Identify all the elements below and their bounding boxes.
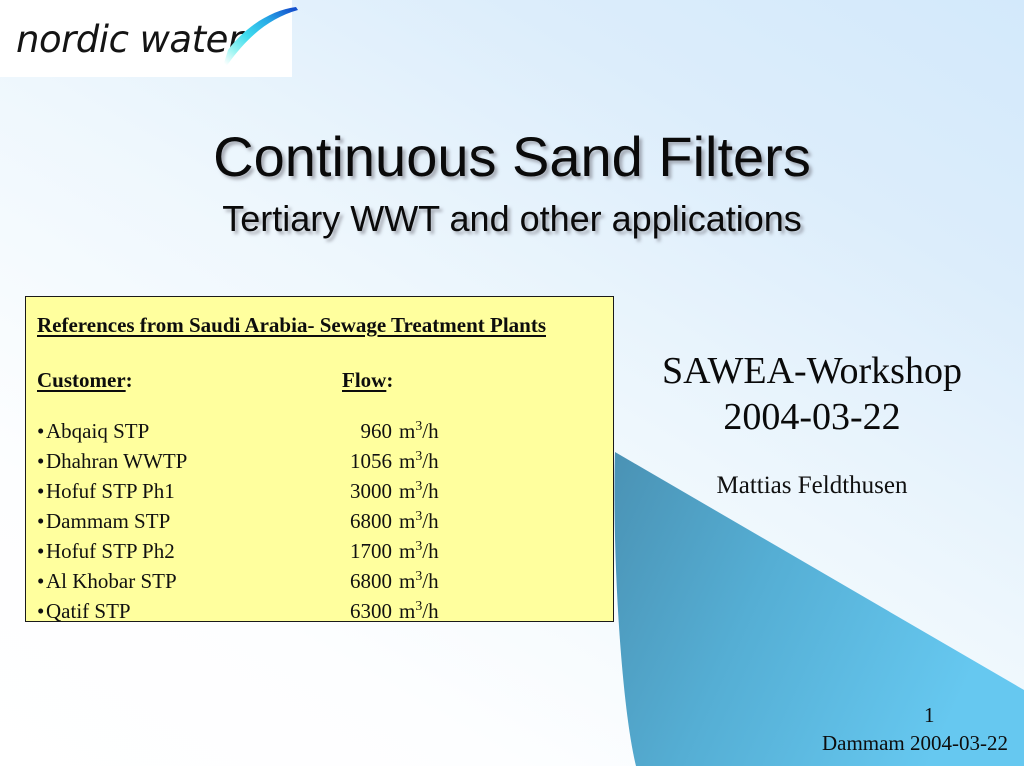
list-item: •Hofuf STP Ph13000m3/h (37, 479, 597, 509)
page-subtitle: Tertiary WWT and other applications (0, 198, 1024, 240)
flow-unit: m3/h (392, 479, 439, 504)
column-header-flow-label: Flow (342, 368, 386, 392)
flow-unit-suffix: /h (422, 599, 438, 623)
slide-footer: Dammam 2004-03-22 (624, 731, 1008, 756)
flow-unit-prefix: m (399, 599, 415, 623)
customer-name: Hofuf STP Ph1 (46, 479, 342, 504)
flow-unit: m3/h (392, 539, 439, 564)
bullet-icon: • (37, 479, 46, 504)
flow-unit-suffix: /h (422, 509, 438, 533)
flow-value: 1700 (342, 539, 392, 564)
bullet-icon: • (37, 509, 46, 534)
bullet-icon: • (37, 599, 46, 624)
flow-unit-suffix: /h (422, 539, 438, 563)
list-item: •Al Khobar STP6800m3/h (37, 569, 597, 599)
flow-value: 3000 (342, 479, 392, 504)
column-header-customer-label: Customer (37, 368, 126, 392)
flow-unit-prefix: m (399, 419, 415, 443)
flow-value: 6800 (342, 509, 392, 534)
references-row-list: •Abqaiq STP960m3/h •Dhahran WWTP1056m3/h… (37, 419, 597, 629)
list-item: •Dhahran WWTP1056m3/h (37, 449, 597, 479)
list-item: •Dammam STP6800m3/h (37, 509, 597, 539)
customer-name: Dammam STP (46, 509, 342, 534)
flow-value: 1056 (342, 449, 392, 474)
flow-unit-suffix: /h (422, 449, 438, 473)
customer-name: Abqaiq STP (46, 419, 342, 444)
customer-name: Al Khobar STP (46, 569, 342, 594)
bullet-icon: • (37, 569, 46, 594)
list-item: •Hofuf STP Ph21700m3/h (37, 539, 597, 569)
customer-name: Hofuf STP Ph2 (46, 539, 342, 564)
swoosh-icon (212, 4, 298, 74)
references-column-headers: Customer:Flow: (37, 368, 597, 393)
flow-unit: m3/h (392, 509, 439, 534)
flow-unit-suffix: /h (422, 569, 438, 593)
flow-unit-suffix: /h (422, 479, 438, 503)
flow-unit-suffix: /h (422, 419, 438, 443)
flow-unit-prefix: m (399, 449, 415, 473)
customer-name: Qatif STP (46, 599, 342, 624)
flow-unit-prefix: m (399, 509, 415, 533)
flow-unit-prefix: m (399, 569, 415, 593)
flow-unit: m3/h (392, 449, 439, 474)
list-item: •Qatif STP6300m3/h (37, 599, 597, 629)
nordic-water-logo: nordic water (0, 0, 292, 77)
event-title-line-1: SAWEA-Workshop (600, 348, 1024, 394)
flow-unit: m3/h (392, 419, 439, 444)
bullet-icon: • (37, 449, 46, 474)
customer-name: Dhahran WWTP (46, 449, 342, 474)
flow-value: 6800 (342, 569, 392, 594)
flow-value: 960 (342, 419, 392, 444)
slide-number: 1 (924, 703, 1004, 728)
flow-unit-prefix: m (399, 479, 415, 503)
bullet-icon: • (37, 419, 46, 444)
flow-unit-prefix: m (399, 539, 415, 563)
presentation-slide: nordic water Continuous Sand Filters Ter… (0, 0, 1024, 766)
references-panel: References from Saudi Arabia- Sewage Tre… (25, 296, 614, 622)
flow-unit: m3/h (392, 599, 439, 624)
flow-unit: m3/h (392, 569, 439, 594)
column-header-flow: Flow: (342, 368, 393, 392)
page-title: Continuous Sand Filters (0, 124, 1024, 189)
references-heading: References from Saudi Arabia- Sewage Tre… (37, 313, 546, 338)
bullet-icon: • (37, 539, 46, 564)
logo-wordmark: nordic water (16, 18, 243, 61)
column-header-customer: Customer: (37, 368, 342, 393)
column-header-customer-colon: : (126, 368, 133, 392)
event-title-line-2: 2004-03-22 (600, 394, 1024, 440)
event-title: SAWEA-Workshop 2004-03-22 (600, 348, 1024, 441)
flow-value: 6300 (342, 599, 392, 624)
list-item: •Abqaiq STP960m3/h (37, 419, 597, 449)
column-header-flow-colon: : (386, 368, 393, 392)
presenter-name: Mattias Feldthusen (600, 472, 1024, 500)
